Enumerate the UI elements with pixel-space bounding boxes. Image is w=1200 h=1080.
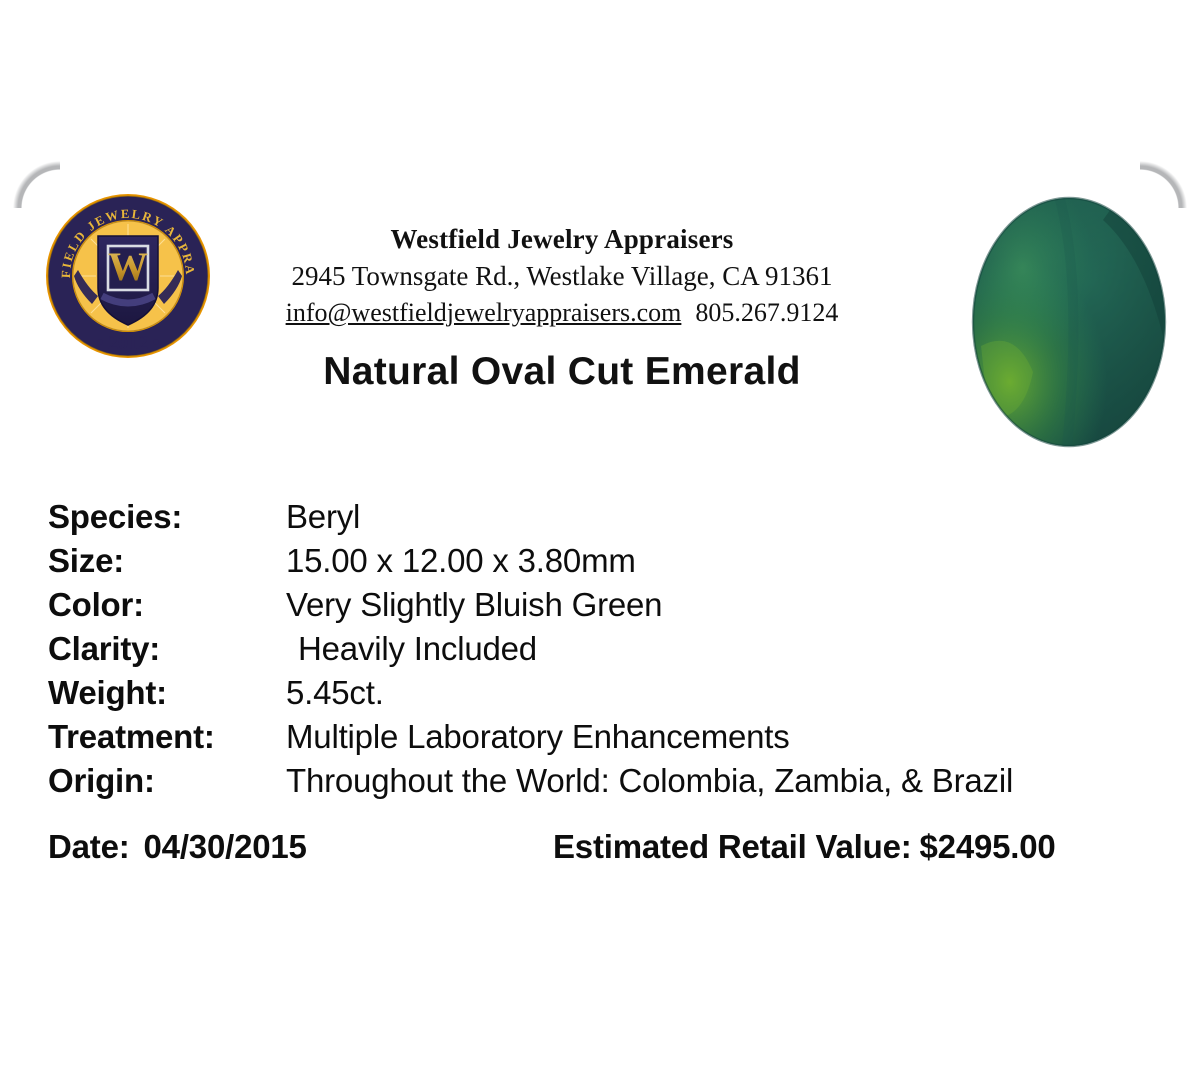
retail-value-label: Estimated Retail Value: <box>553 828 912 865</box>
item-title: Natural Oval Cut Emerald <box>232 350 892 394</box>
spec-value-size: 15.00 x 12.00 x 3.80mm <box>286 542 636 580</box>
spec-row-clarity: Clarity: Heavily Included <box>48 630 1148 674</box>
spec-label-origin: Origin: <box>48 762 286 800</box>
seal-shield: W <box>98 236 158 325</box>
spec-value-species: Beryl <box>286 498 360 536</box>
company-email-link[interactable]: info@westfieldjewelryappraisers.com <box>286 298 682 327</box>
certificate-footer: Date:04/30/2015 Estimated Retail Value:$… <box>48 828 1148 866</box>
spec-value-clarity: Heavily Included <box>286 630 537 668</box>
spec-row-origin: Origin: Throughout the World: Colombia, … <box>48 762 1148 806</box>
letterhead: Westfield Jewelry Appraisers 2945 Townsg… <box>232 224 892 330</box>
westfield-seal-logo: WESTFIELD JEWELRY APPRAISERS <box>44 192 212 360</box>
spec-label-size: Size: <box>48 542 286 580</box>
spec-label-treatment: Treatment: <box>48 718 286 756</box>
company-phone[interactable]: 805.267.9124 <box>695 298 838 327</box>
spec-row-size: Size: 15.00 x 12.00 x 3.80mm <box>48 542 1148 586</box>
spec-value-treatment: Multiple Laboratory Enhancements <box>286 718 790 756</box>
company-address: 2945 Townsgate Rd., Westlake Village, CA… <box>232 259 892 294</box>
retail-value-amount: $2495.00 <box>920 828 1056 865</box>
spec-label-species: Species: <box>48 498 286 536</box>
date-label: Date: <box>48 828 130 865</box>
estimated-retail-value: Estimated Retail Value:$2495.00 <box>553 828 1056 866</box>
spec-row-color: Color: Very Slightly Bluish Green <box>48 586 1148 630</box>
specification-list: Species: Beryl Size: 15.00 x 12.00 x 3.8… <box>48 498 1148 806</box>
svg-text:2012: 2012 <box>108 332 148 354</box>
spec-row-treatment: Treatment: Multiple Laboratory Enhanceme… <box>48 718 1148 762</box>
appraisal-date: Date:04/30/2015 <box>48 828 553 866</box>
contact-line: info@westfieldjewelryappraisers.com805.2… <box>232 296 892 329</box>
spec-row-species: Species: Beryl <box>48 498 1148 542</box>
spec-value-origin: Throughout the World: Colombia, Zambia, … <box>286 762 1013 800</box>
date-value: 04/30/2015 <box>144 828 307 865</box>
seal-monogram-w: W <box>108 244 148 289</box>
spec-value-color: Very Slightly Bluish Green <box>286 586 662 624</box>
spec-row-weight: Weight: 5.45ct. <box>48 674 1148 718</box>
gemstone-photo <box>963 186 1175 458</box>
spec-value-weight: 5.45ct. <box>286 674 384 712</box>
spec-label-weight: Weight: <box>48 674 286 712</box>
spec-label-clarity: Clarity: <box>48 630 286 668</box>
company-name: Westfield Jewelry Appraisers <box>232 224 892 256</box>
appraisal-certificate-card: WESTFIELD JEWELRY APPRAISERS <box>0 148 1200 1080</box>
spec-label-color: Color: <box>48 586 286 624</box>
